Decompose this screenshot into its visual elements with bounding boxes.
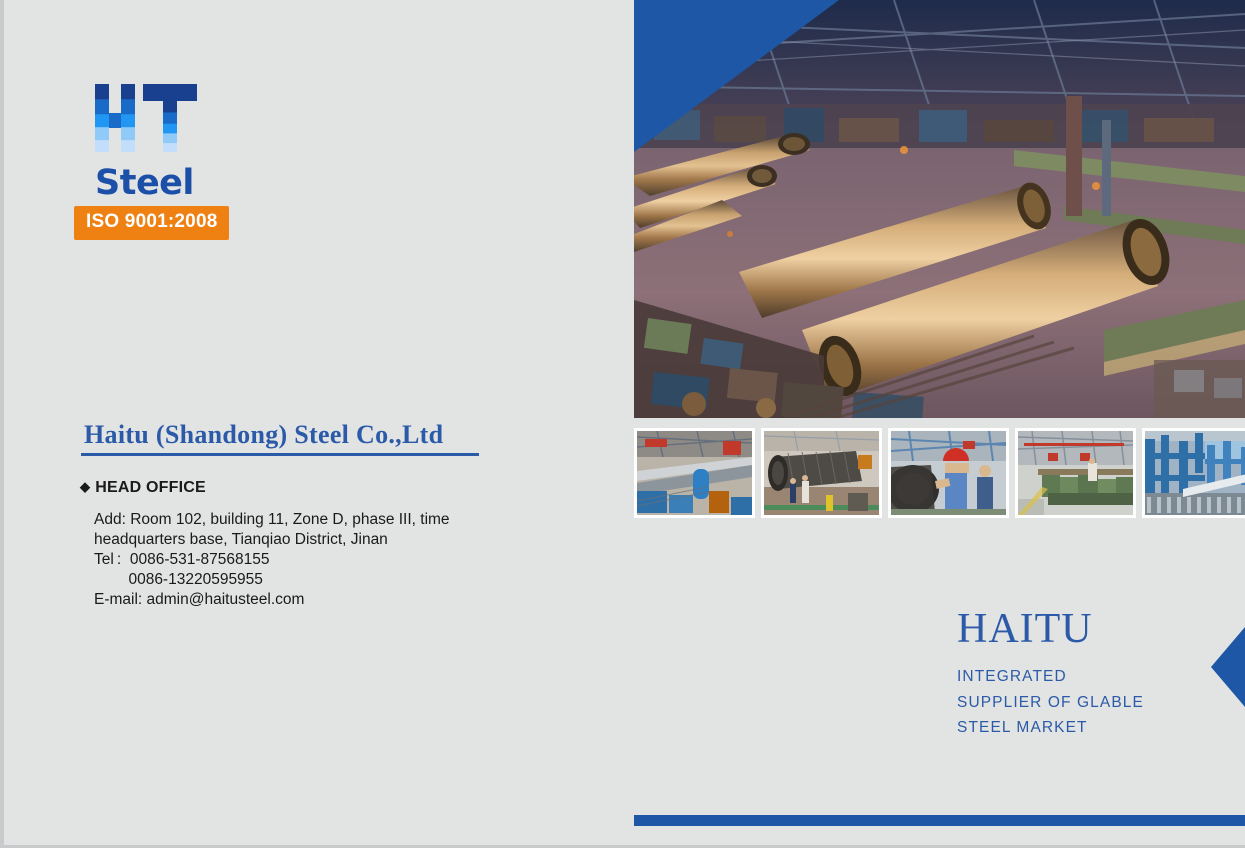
telephone-line-1: Tel : 0086-531-87568155 <box>94 550 524 570</box>
thumb-worker-inspecting-pipe[interactable] <box>888 428 1009 518</box>
address-line-1: Add: Room 102, building 11, Zone D, phas… <box>94 510 524 530</box>
thumb-pipe-production-line[interactable] <box>634 428 755 518</box>
iso-certification-badge: ISO 9001:2008 <box>74 206 229 240</box>
right-panel <box>631 0 1245 848</box>
head-office-label: HEAD OFFICE <box>95 479 206 496</box>
ht-pixel-logo-icon <box>95 82 197 154</box>
brochure-page: Steel ISO 9001:2008 Haitu (Shandong) Ste… <box>0 0 1245 848</box>
brand-tagline-line-3: STEEL MARKET <box>957 715 1144 741</box>
diamond-bullet-icon: ◆ <box>80 479 90 494</box>
contact-details: Add: Room 102, building 11, Zone D, phas… <box>94 510 524 610</box>
telephone-line-2: 0086-13220595955 <box>94 570 524 590</box>
company-logo: Steel <box>95 82 335 201</box>
email-line: E-mail: admin@haitusteel.com <box>94 590 524 610</box>
brand-tagline: INTEGRATED SUPPLIER OF GLABLE STEEL MARK… <box>957 664 1144 741</box>
footer-accent-bar <box>634 815 1245 826</box>
thumb-rolling-mill-line[interactable] <box>1142 428 1245 518</box>
company-name: Haitu (Shandong) Steel Co.,Ltd <box>84 420 443 450</box>
thumbnail-strip <box>634 428 1245 518</box>
thumb-machining-workshop[interactable] <box>1015 428 1136 518</box>
head-office-heading: ◆HEAD OFFICE <box>80 479 206 497</box>
brand-title: HAITU <box>957 608 1144 650</box>
steel-wordmark: Steel <box>95 166 335 201</box>
thumb-spiral-welded-pipe[interactable] <box>761 428 882 518</box>
brand-block: HAITU INTEGRATED SUPPLIER OF GLABLE STEE… <box>957 608 1144 741</box>
left-panel: Steel ISO 9001:2008 Haitu (Shandong) Ste… <box>0 0 631 848</box>
brand-tagline-line-2: SUPPLIER OF GLABLE <box>957 690 1144 716</box>
company-name-underline <box>81 453 479 456</box>
hero-image <box>634 0 1245 418</box>
brand-tagline-line-1: INTEGRATED <box>957 664 1144 690</box>
address-line-2: headquarters base, Tianqiao District, Ji… <box>94 530 524 550</box>
left-pointing-triangle-icon <box>1211 627 1245 707</box>
